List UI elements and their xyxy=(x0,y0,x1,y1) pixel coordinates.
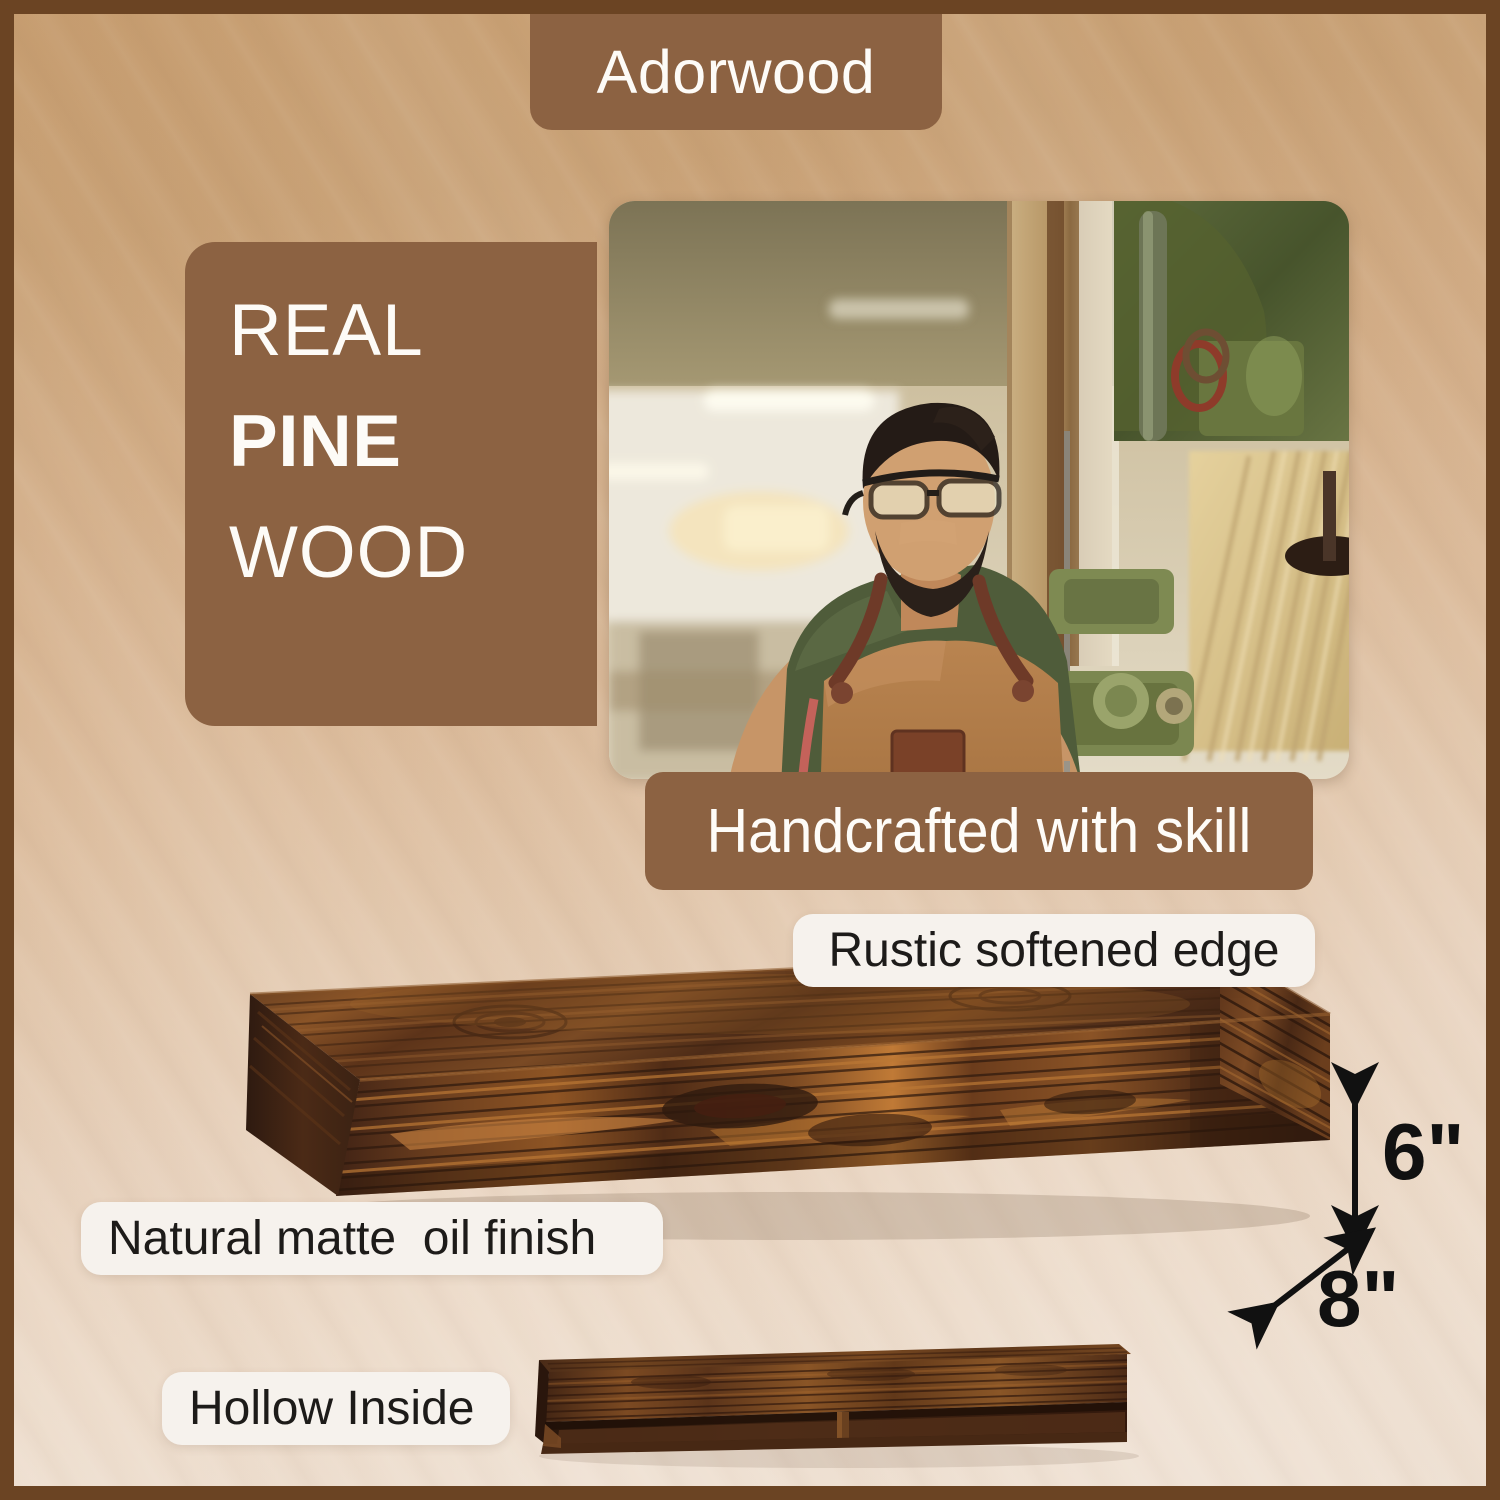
brand-banner: Adorwood xyxy=(530,14,942,130)
poster-frame-border: Adorwood REAL PINE WOOD xyxy=(0,0,1500,1500)
brand-name: Adorwood xyxy=(597,42,876,103)
feature-pill-rustic-edge: Rustic softened edge xyxy=(793,914,1315,987)
feature-pill-oil-finish: Natural matte oil finish xyxy=(81,1202,663,1275)
feature-pill-hollow-inside: Hollow Inside xyxy=(162,1372,510,1445)
hollow-beam-product-image xyxy=(519,1344,1139,1486)
headline-line-2: PINE xyxy=(229,387,597,498)
height-dimension-label: 6" xyxy=(1382,1112,1464,1192)
depth-dimension-label: 8" xyxy=(1317,1259,1399,1339)
headline-line-1: REAL xyxy=(229,276,597,387)
feature-label-hollow-inside: Hollow Inside xyxy=(189,1381,474,1436)
photo-caption-text: Handcrafted with skill xyxy=(707,796,1252,867)
headline-block: REAL PINE WOOD xyxy=(185,242,597,726)
headline-line-3: WOOD xyxy=(229,498,597,609)
feature-label-rustic-edge: Rustic softened edge xyxy=(829,923,1280,978)
poster-canvas: Adorwood REAL PINE WOOD xyxy=(14,14,1486,1486)
feature-label-oil-finish: Natural matte oil finish xyxy=(108,1211,596,1266)
craftsman-bandsaw-photo xyxy=(609,201,1349,779)
photo-caption-banner: Handcrafted with skill xyxy=(645,772,1313,890)
